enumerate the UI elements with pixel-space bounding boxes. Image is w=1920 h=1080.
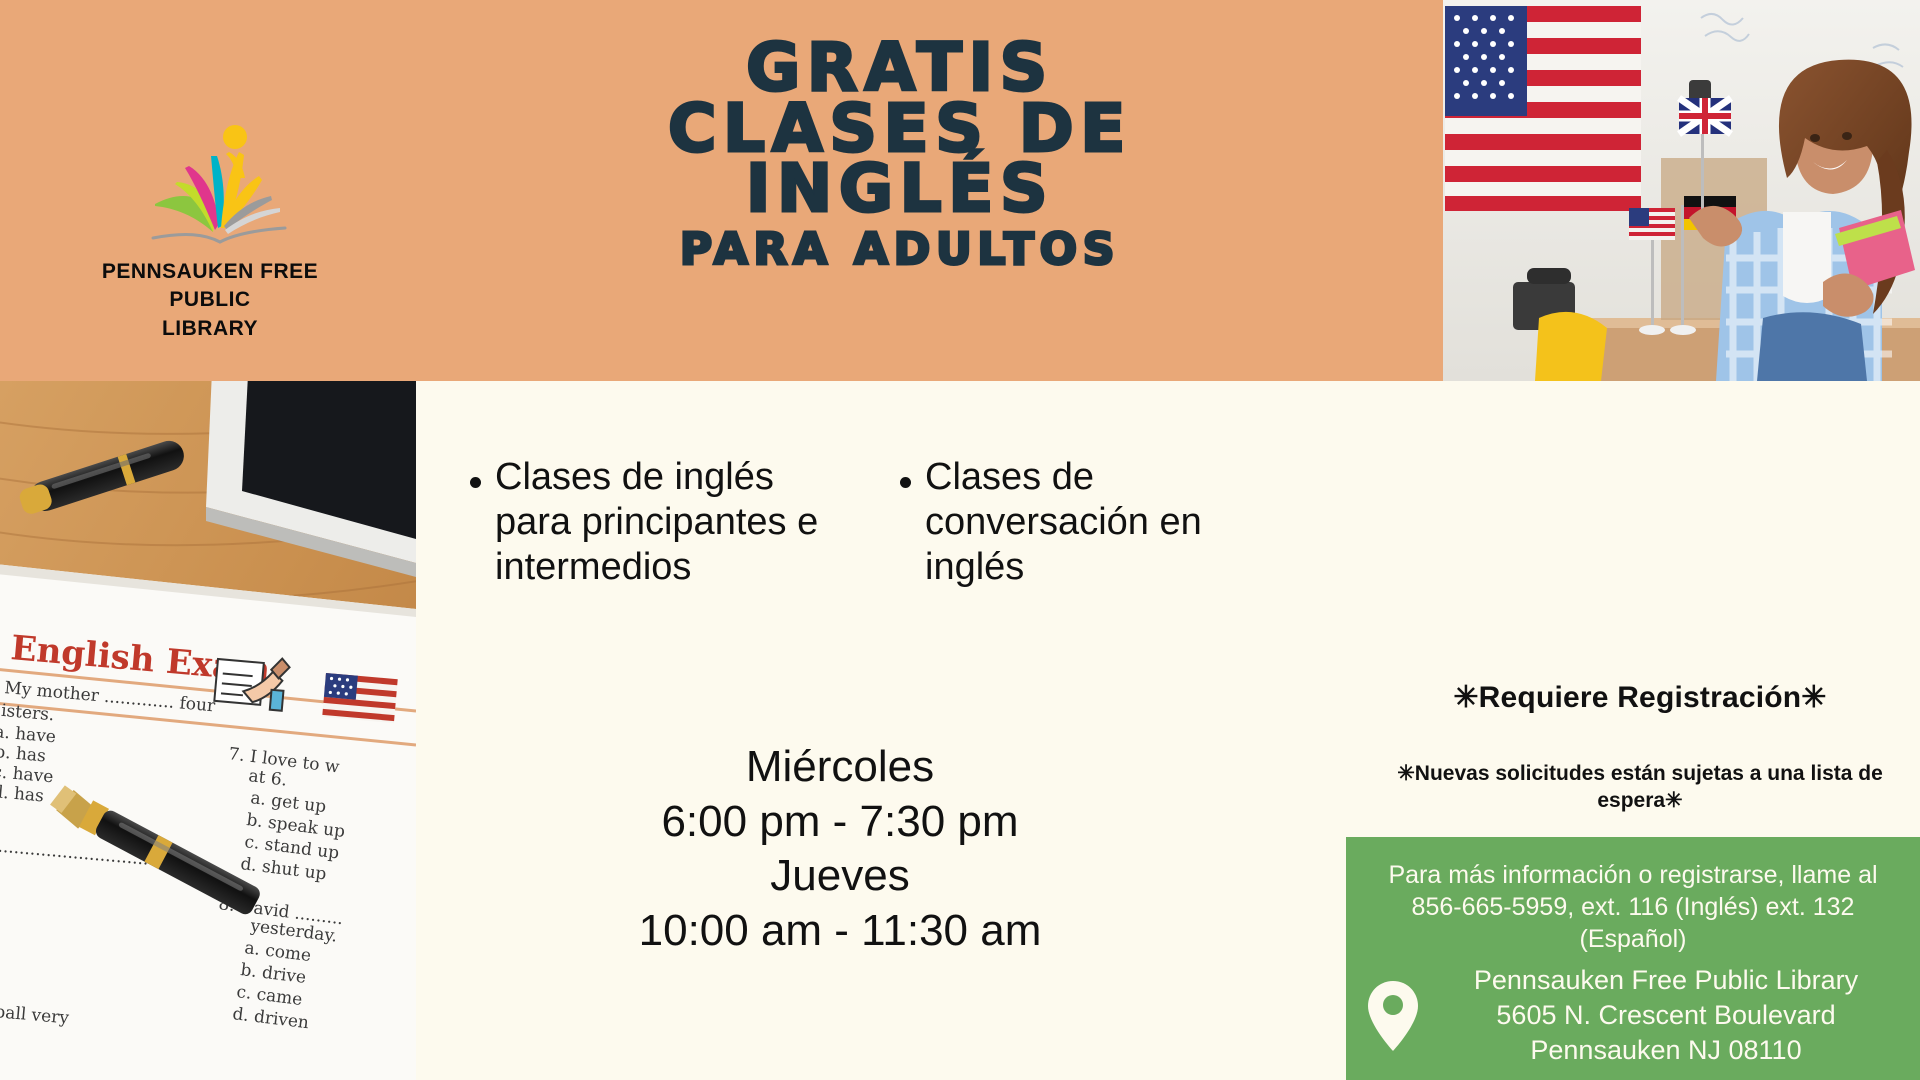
english-exam-photo: English Exam [0, 381, 416, 1080]
english-exam-photo-graphic: English Exam [0, 381, 416, 1080]
logo-name-line-1: PENNSAUKEN FREE PUBLIC [60, 258, 360, 315]
classroom-student-photo [1443, 0, 1920, 381]
open-book-with-figure-icon [125, 120, 295, 250]
contact-phone-block: Para más información o registrarse, llam… [1346, 837, 1920, 955]
contact-address-line-1: Pennsauken Free Public Library [1432, 963, 1900, 998]
contact-phone-line-2: 856-665-5959, ext. 116 (Inglés) ext. 132 [1372, 891, 1894, 923]
contact-address-line-3: Pennsauken NJ 08110 [1432, 1033, 1900, 1068]
library-logo: PENNSAUKEN FREE PUBLIC LIBRARY [60, 120, 360, 343]
contact-address-line-2: 5605 N. Crescent Boulevard [1432, 998, 1900, 1033]
list-item-label: Clases de conversación en inglés [925, 455, 1230, 589]
flyer-poster: PENNSAUKEN FREE PUBLIC LIBRARY GRATIS CL… [0, 0, 1920, 1080]
headline-line-para-adultos: PARA ADULTOS [420, 230, 1380, 270]
contact-phone-line-1: Para más información o registrarse, llam… [1372, 859, 1894, 891]
schedule-time-1: 6:00 pm - 7:30 pm [440, 795, 1240, 850]
map-pin-icon [1364, 978, 1422, 1054]
schedule-time-2: 10:00 am - 11:30 am [440, 904, 1240, 959]
schedule-day-1: Miércoles [440, 740, 1240, 795]
schedule-block: Miércoles 6:00 pm - 7:30 pm Jueves 10:00… [440, 740, 1240, 958]
svg-text:d. has: d. has [0, 782, 45, 806]
contact-address-block: Pennsauken Free Public Library 5605 N. C… [1432, 963, 1900, 1068]
list-item-label: Clases de inglés para principantes e int… [495, 455, 860, 589]
list-item: Clases de inglés para principantes e int… [470, 455, 860, 589]
list-item: Clases de conversación en inglés [900, 455, 1230, 589]
bullet-dot-icon [900, 477, 911, 488]
logo-name-line-2: LIBRARY [60, 315, 360, 343]
contact-phone-line-3: (Español) [1372, 923, 1894, 955]
logo-library-name: PENNSAUKEN FREE PUBLIC LIBRARY [60, 258, 360, 343]
contact-address-row: Pennsauken Free Public Library 5605 N. C… [1346, 955, 1920, 1068]
class-offerings-list: Clases de inglés para principantes e int… [470, 455, 1350, 589]
contact-info-box: Para más información o registrarse, llam… [1346, 837, 1920, 1080]
headline-line-ingles: INGLÉS [420, 159, 1380, 220]
bullet-dot-icon [470, 477, 481, 488]
headline-block: GRATIS CLASES DE INGLÉS PARA ADULTOS [420, 38, 1380, 271]
registration-required-heading: ✳Requiere Registración✳ [1380, 680, 1900, 715]
schedule-day-2: Jueves [440, 849, 1240, 904]
registration-waitlist-note: ✳Nuevas solicitudes están sujetas a una … [1370, 760, 1910, 815]
classroom-student-photo-graphic [1443, 0, 1920, 381]
